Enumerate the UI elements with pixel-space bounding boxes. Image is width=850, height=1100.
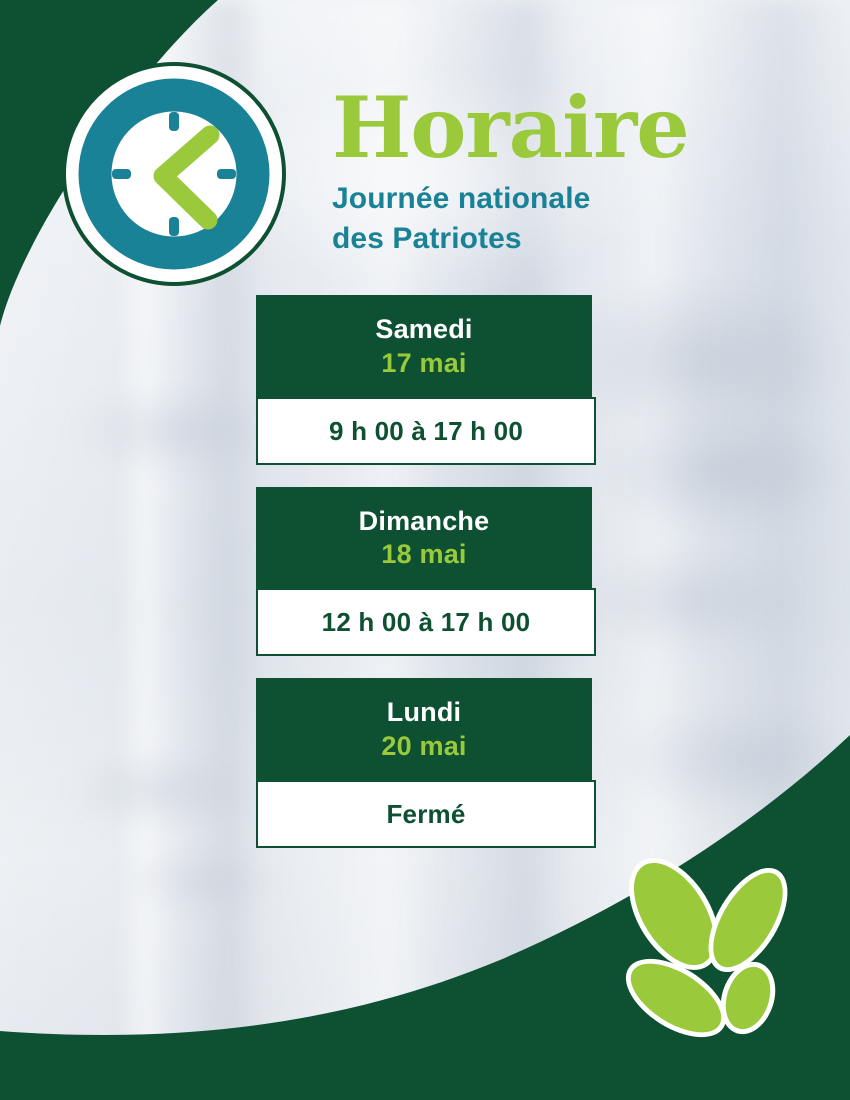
clock-tick-6 — [169, 217, 179, 236]
schedule-day: Dimanche — [256, 505, 592, 539]
schedule-card-body: 9 h 00 à 17 h 00 — [256, 397, 596, 465]
subtitle-line-1: Journée nationale — [332, 179, 689, 219]
schedule-day: Lundi — [256, 696, 592, 730]
schedule-day: Samedi — [256, 313, 592, 347]
butterfly-icon — [612, 852, 808, 1052]
schedule-card-header: Lundi 20 mai — [256, 678, 592, 780]
schedule-hours: 9 h 00 à 17 h 00 — [258, 416, 594, 447]
schedule-list: Samedi 17 mai 9 h 00 à 17 h 00 Dimanche … — [256, 295, 596, 848]
clock-tick-12 — [169, 112, 179, 131]
clock-tick-3 — [217, 169, 236, 179]
schedule-card: Samedi 17 mai 9 h 00 à 17 h 00 — [256, 295, 596, 465]
schedule-card: Dimanche 18 mai 12 h 00 à 17 h 00 — [256, 487, 596, 657]
schedule-date: 20 mai — [256, 730, 592, 764]
poster-canvas: Horaire Journée nationale des Patriotes … — [0, 0, 850, 1100]
clock-icon — [62, 62, 286, 286]
clock-tick-9 — [112, 169, 131, 179]
schedule-card-header: Dimanche 18 mai — [256, 487, 592, 589]
schedule-card-body: Fermé — [256, 780, 596, 848]
schedule-hours: 12 h 00 à 17 h 00 — [258, 607, 594, 638]
schedule-date: 18 mai — [256, 538, 592, 572]
schedule-card: Lundi 20 mai Fermé — [256, 678, 596, 848]
header-block: Horaire Journée nationale des Patriotes — [332, 88, 689, 258]
schedule-hours: Fermé — [258, 799, 594, 830]
subtitle-line-2: des Patriotes — [332, 219, 689, 259]
schedule-card-body: 12 h 00 à 17 h 00 — [256, 588, 596, 656]
schedule-date: 17 mai — [256, 347, 592, 381]
schedule-card-header: Samedi 17 mai — [256, 295, 592, 397]
page-subtitle: Journée nationale des Patriotes — [332, 179, 689, 259]
page-title: Horaire — [332, 88, 689, 169]
